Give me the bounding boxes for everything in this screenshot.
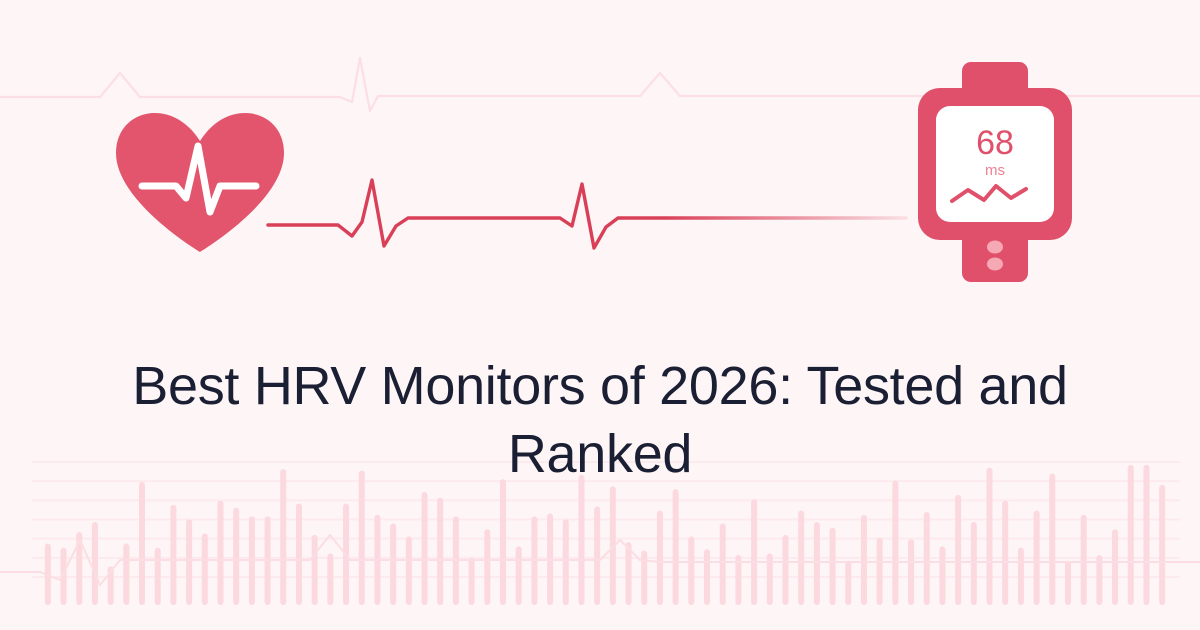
- chart-bar: [531, 516, 537, 605]
- chart-bar: [688, 536, 694, 605]
- chart-bar: [343, 503, 349, 605]
- chart-bar: [265, 516, 271, 605]
- chart-bar: [767, 554, 773, 605]
- watch-band-bottom: [962, 230, 1028, 282]
- chart-bar: [92, 522, 98, 605]
- chart-bar: [955, 495, 961, 605]
- chart-bar: [155, 548, 161, 605]
- chart-bar: [782, 535, 788, 605]
- chart-bar: [170, 505, 176, 605]
- chart-bar: [516, 546, 522, 605]
- watch-hrv-unit: ms: [985, 162, 1005, 179]
- chart-bar: [45, 544, 51, 605]
- chart-bar: [296, 503, 302, 605]
- chart-bar: [657, 511, 663, 605]
- chart-bar: [202, 534, 208, 606]
- chart-bar: [1002, 501, 1008, 605]
- chart-bar: [924, 512, 930, 605]
- chart-bar: [422, 492, 428, 605]
- page-title-block: Best HRV Monitors of 2026: Tested and Ra…: [0, 352, 1200, 488]
- chart-bar: [908, 539, 914, 605]
- chart-bar: [610, 486, 616, 605]
- ecg-trace: [0, 0, 1200, 630]
- chart-bar: [673, 489, 679, 605]
- heart-with-pulse-icon: [110, 108, 290, 254]
- chart-bar: [626, 542, 632, 605]
- chart-bar: [1034, 511, 1040, 605]
- watch-band-dot-lower: [987, 258, 1003, 271]
- chart-bar: [233, 508, 239, 605]
- chart-bar: [1096, 555, 1102, 605]
- chart-bar: [139, 482, 145, 605]
- chart-bar: [76, 532, 82, 605]
- chart-bar: [735, 555, 741, 605]
- chart-bar: [469, 558, 475, 605]
- watch-case: [918, 88, 1072, 240]
- chart-bar: [249, 516, 255, 605]
- watch-sparkline-icon: [952, 186, 1026, 201]
- page-title: Best HRV Monitors of 2026: Tested and Ra…: [120, 352, 1080, 488]
- chart-bar: [830, 528, 836, 605]
- watch-band-dot-upper: [987, 241, 1003, 254]
- chart-bar: [406, 536, 412, 605]
- chart-bar: [500, 479, 506, 605]
- chart-bar: [641, 551, 647, 605]
- chart-bar: [437, 498, 443, 605]
- chart-bar: [484, 529, 490, 605]
- chart-bar: [1112, 529, 1118, 605]
- chart-bar: [1065, 561, 1071, 605]
- chart-bar: [814, 522, 820, 605]
- chart-bar: [547, 513, 553, 605]
- chart-bar: [971, 522, 977, 605]
- chart-bar: [108, 566, 114, 605]
- chart-bar: [720, 523, 726, 605]
- chart-bar: [186, 519, 192, 605]
- chart-bar: [877, 538, 883, 605]
- chart-bar: [453, 516, 459, 605]
- chart-bar: [217, 501, 223, 605]
- chart-bar: [798, 511, 804, 605]
- chart-bar: [1081, 515, 1087, 605]
- watch-hrv-value: 68: [976, 124, 1014, 162]
- chart-bar: [374, 515, 380, 605]
- chart-bar: [123, 544, 129, 605]
- hrv-bar-visualization: [0, 0, 1200, 630]
- background-ecg-trace: [0, 0, 1200, 630]
- chart-bar: [563, 519, 569, 605]
- chart-bar: [751, 499, 757, 605]
- chart-bar: [390, 523, 396, 605]
- chart-bar: [1049, 473, 1055, 605]
- chart-bar: [578, 475, 584, 605]
- chart-bar: [939, 546, 945, 605]
- chart-bar: [704, 549, 710, 605]
- chart-bar: [61, 548, 67, 605]
- chart-bar: [359, 471, 365, 605]
- smartwatch-hrv-icon: 68 ms: [910, 62, 1080, 282]
- watch-band-top: [962, 62, 1028, 114]
- background-ecg-trace-bottom: [0, 535, 1200, 585]
- chart-bar: [845, 561, 851, 605]
- chart-bar: [327, 554, 333, 605]
- chart-bar: [1159, 485, 1165, 605]
- chart-bar: [280, 469, 286, 605]
- og-image-canvas: 68 ms Best HRV Monitors of 2026: Tested …: [0, 0, 1200, 630]
- chart-bar: [987, 468, 993, 605]
- watch-screen: [936, 106, 1054, 222]
- chart-bar: [861, 515, 867, 605]
- chart-bar: [312, 535, 318, 605]
- chart-bar: [892, 481, 898, 605]
- chart-bar: [594, 506, 600, 605]
- chart-bar: [1018, 548, 1024, 605]
